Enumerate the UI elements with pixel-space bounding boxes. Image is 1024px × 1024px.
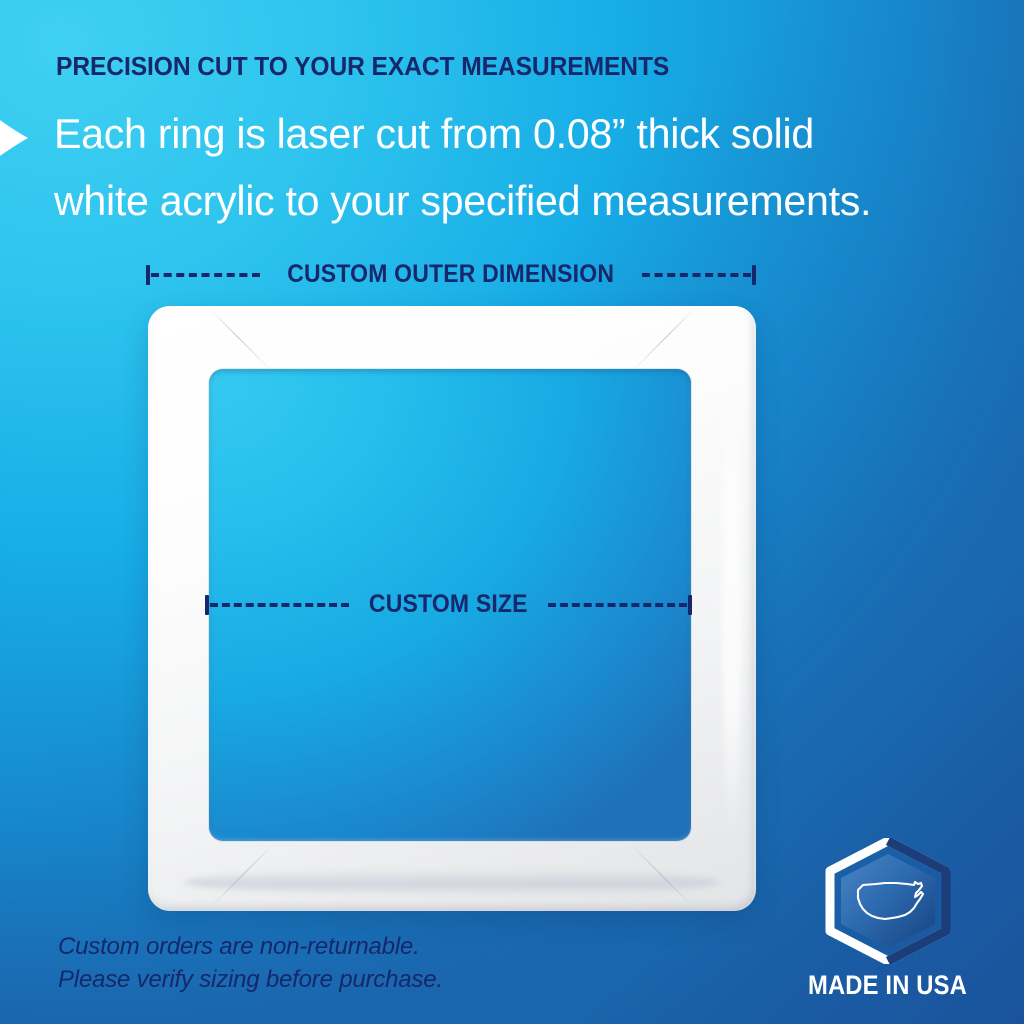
inner-dimension-dash-right [548,603,687,607]
outer-dimension-label: CUSTOM OUTER DIMENSION [277,260,626,289]
inner-dimension-line: CUSTOM SIZE [205,590,692,619]
dimension-cap-right [752,265,756,285]
dimension-dash-left [151,273,260,277]
made-in-usa-badge: MADE IN USA [795,838,980,1003]
page-kicker: PRECISION CUT TO YOUR EXACT MEASUREMENTS [56,53,669,82]
frame-gloss-right [722,367,742,839]
frame-shade-bottom [184,869,719,895]
dimension-cap-left [146,265,150,285]
inner-dimension-dash-left [210,603,349,607]
subhead-line-1: Each ring is laser cut from 0.08” thick … [54,100,975,167]
chevron-right-icon [0,95,32,181]
dimension-dash-right [642,273,751,277]
inner-dimension-cap-left [205,595,209,615]
disclaimer-line-2: Please verify sizing before purchase. [58,963,443,996]
subhead-line-2: white acrylic to your specified measurem… [54,167,975,234]
hexagon-icon [841,854,935,948]
infographic-canvas: PRECISION CUT TO YOUR EXACT MEASUREMENTS… [0,0,1024,1024]
made-in-usa-caption: MADE IN USA [806,970,969,1001]
page-subhead: Each ring is laser cut from 0.08” thick … [54,100,975,234]
inner-dimension-label: CUSTOM SIZE [358,590,539,619]
usa-map-hexagon-icon [822,838,954,964]
inner-dimension-cap-right [688,595,692,615]
disclaimer-text: Custom orders are non-returnable. Please… [58,930,443,996]
outer-dimension-line: CUSTOM OUTER DIMENSION [146,260,756,289]
disclaimer-line-1: Custom orders are non-returnable. [58,930,443,963]
